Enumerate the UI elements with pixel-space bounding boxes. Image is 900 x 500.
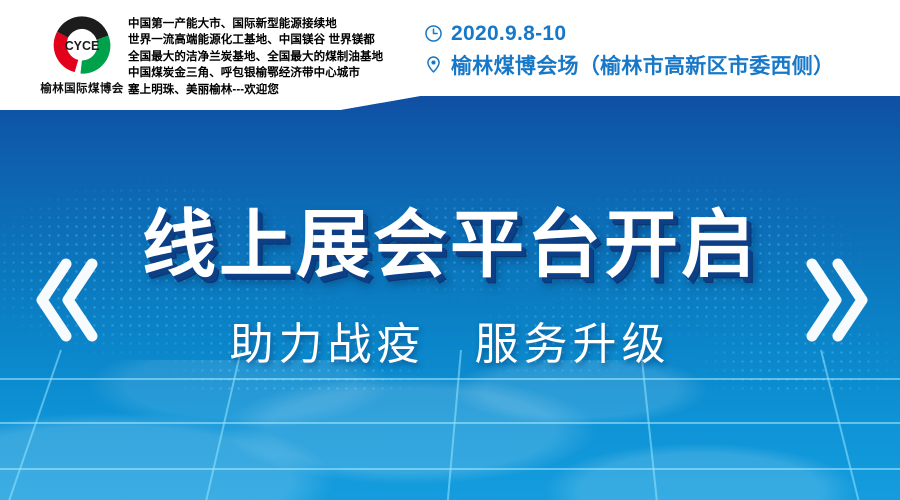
cyce-logo-icon: CYCE xyxy=(45,12,119,78)
logo-caption: 榆林国际煤博会 xyxy=(36,80,128,96)
hero-title-text: 线上展会平台开启 xyxy=(142,203,758,287)
location-pin-icon xyxy=(424,55,443,74)
event-meta: 2020.9.8-10 榆林煤博会场（榆林市高新区市委西侧） xyxy=(424,18,834,80)
exhibition-banner: 线上展会平台开启 助力战疫 服务升级 xyxy=(0,0,900,500)
event-venue-text: 榆林煤博会场（榆林市高新区市委西侧） xyxy=(451,50,834,80)
banner-header: CYCE 榆林国际煤博会 中国第一产能大市、国际新型能源接续地 世界一流高端能源… xyxy=(0,0,900,110)
event-date-text: 2020.9.8-10 xyxy=(451,22,566,46)
globe-graphic xyxy=(0,360,900,500)
slogan-block: 中国第一产能大市、国际新型能源接续地 世界一流高端能源化工基地、中国镁谷 世界镁… xyxy=(128,16,383,98)
slogan-line: 世界一流高端能源化工基地、中国镁谷 世界镁都 xyxy=(128,32,383,48)
logo-monogram: CYCE xyxy=(65,39,100,53)
slogan-line: 中国第一产能大市、国际新型能源接续地 xyxy=(128,16,383,32)
slogan-line: 中国煤炭金三角、呼包银榆鄂经济带中心城市 xyxy=(128,65,383,81)
event-venue-row: 榆林煤博会场（榆林市高新区市委西侧） xyxy=(424,49,834,80)
hero-subtitle-text: 助力战疫 服务升级 xyxy=(230,316,671,374)
logo[interactable]: CYCE 榆林国际煤博会 xyxy=(36,12,128,96)
slogan-line: 全国最大的洁净兰炭基地、全国最大的煤制油基地 xyxy=(128,49,383,65)
slogan-line: 塞上明珠、美丽榆林---欢迎您 xyxy=(128,82,383,98)
event-date-row: 2020.9.8-10 xyxy=(424,18,834,49)
clock-icon xyxy=(424,24,443,43)
hero-subtitle: 助力战疫 服务升级 xyxy=(0,316,900,374)
hero-title: 线上展会平台开启 xyxy=(0,203,900,287)
